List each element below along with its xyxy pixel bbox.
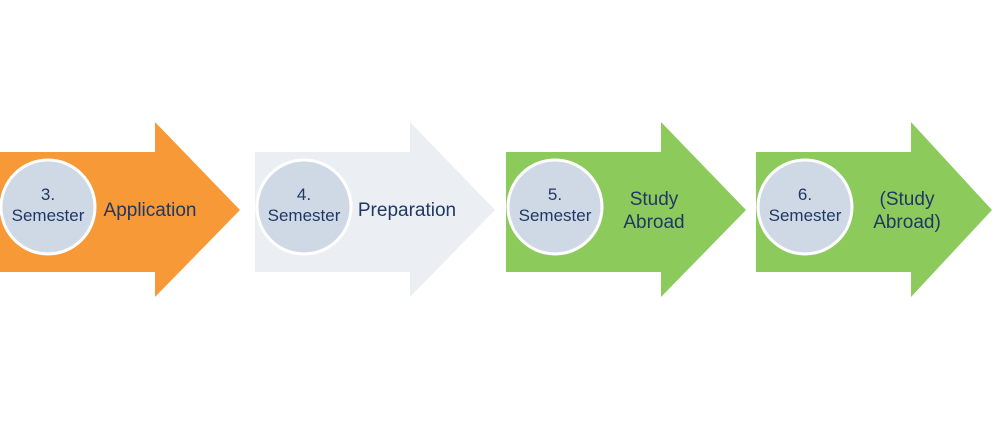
diagram-canvas: 3. Semester Application 4. Semester Prep… — [0, 0, 1000, 421]
process-step-1[interactable]: 3. Semester Application — [0, 0, 254, 421]
semester-number-step-3: 5. — [548, 184, 562, 205]
semester-number-step-2: 4. — [297, 184, 311, 205]
semester-word-step-2: Semester — [268, 205, 341, 226]
process-step-2[interactable]: 4. Semester Preparation — [241, 0, 509, 421]
semester-number-step-4: 6. — [798, 184, 812, 205]
semester-label-step-3: 5. Semester — [507, 157, 603, 253]
process-flow-diagram: 3. Semester Application 4. Semester Prep… — [0, 0, 1000, 421]
process-step-3[interactable]: 5. Semester Study Abroad — [492, 0, 760, 421]
semester-label-step-2: 4. Semester — [256, 157, 352, 253]
semester-word-step-4: Semester — [769, 205, 842, 226]
semester-label-step-4: 6. Semester — [757, 157, 853, 253]
semester-number-step-1: 3. — [41, 184, 55, 205]
semester-label-step-1: 3. Semester — [0, 157, 96, 253]
semester-word-step-3: Semester — [519, 205, 592, 226]
semester-word-step-1: Semester — [12, 205, 85, 226]
process-step-4[interactable]: 6. Semester (Study Abroad) — [742, 0, 1000, 421]
